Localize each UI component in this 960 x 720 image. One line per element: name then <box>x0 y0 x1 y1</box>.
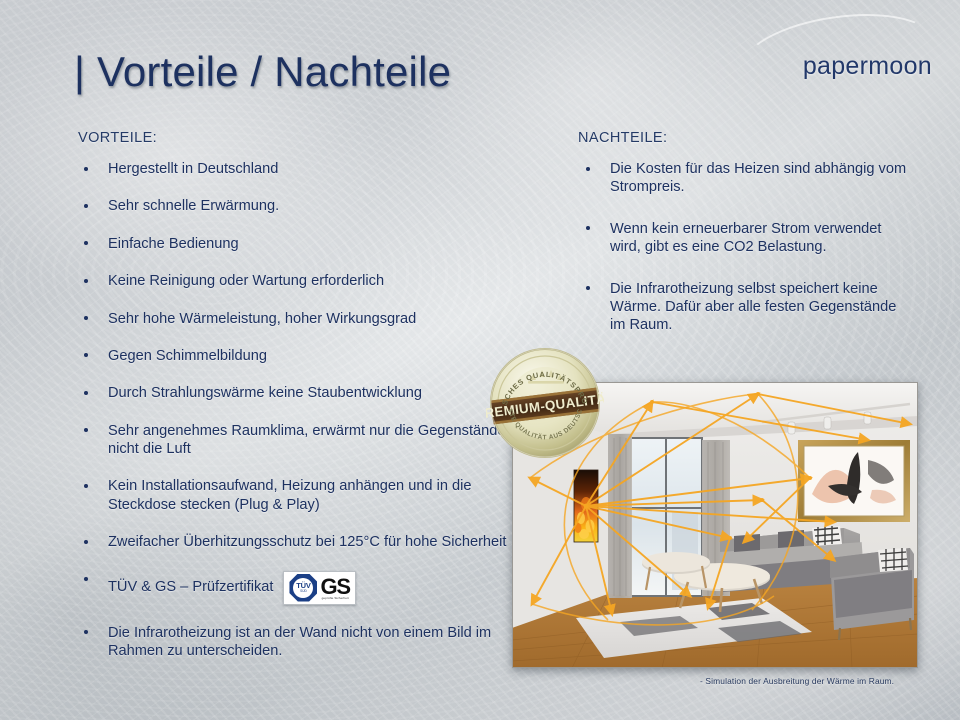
list-item: Durch Strahlungswärme keine Staubentwick… <box>78 384 510 402</box>
bullet-dot-icon <box>586 226 590 230</box>
tuv-sublabel: SÜD <box>300 590 307 593</box>
bullet-dot-icon <box>84 167 88 171</box>
list-item: Kein Installationsaufwand, Heizung anhän… <box>78 477 510 514</box>
premium-quality-seal-graphic: PREMIUM-QUALITÄT DEUTSCHES QUALITÄTSPROD… <box>486 344 604 462</box>
bullet-dot-icon <box>84 484 88 488</box>
list-item: Die Kosten für das Heizen sind abhängig … <box>578 160 908 197</box>
list-item: Sehr angenehmes Raumklima, erwärmt nur d… <box>78 422 510 459</box>
bullet-dot-icon <box>84 428 88 432</box>
list-item-text: Hergestellt in Deutschland <box>108 161 278 177</box>
list-item-text: Die Kosten für das Heizen sind abhängig … <box>610 161 906 195</box>
list-item: Sehr schnelle Erwärmung. <box>78 197 510 215</box>
bullet-dot-icon <box>84 630 88 634</box>
advantages-list: Hergestellt in Deutschland Sehr schnelle… <box>78 160 510 660</box>
list-item-text: Sehr angenehmes Raumklima, erwärmt nur d… <box>108 423 505 457</box>
gs-icon: GS geprüfte Sicherheit <box>320 576 349 600</box>
list-item: Die Infrarotheizung selbst speichert kei… <box>578 280 908 335</box>
gs-label: GS <box>320 576 349 598</box>
list-item: Hergestellt in Deutschland <box>78 160 510 178</box>
list-item-text: TÜV & GS – Prüfzertifikat <box>108 578 273 596</box>
disadvantages-heading: NACHTEILE: <box>578 130 908 146</box>
list-item-text: Kein Installationsaufwand, Heizung anhän… <box>108 478 472 512</box>
list-item: Sehr hohe Wärmeleistung, hoher Wirkungsg… <box>78 310 510 328</box>
bullet-dot-icon <box>84 241 88 245</box>
bullet-dot-icon <box>84 577 88 581</box>
list-item: Einfache Bedienung <box>78 235 510 253</box>
advantages-heading: VORTEILE: <box>78 130 510 146</box>
advantages-column: VORTEILE: Hergestellt in Deutschland Seh… <box>78 130 510 679</box>
list-item-text: Sehr hohe Wärmeleistung, hoher Wirkungsg… <box>108 311 416 327</box>
list-item-text: Die Infrarotheizung ist an der Wand nich… <box>108 625 491 659</box>
list-item-text: Wenn kein erneuerbarer Strom verwendet w… <box>610 221 881 255</box>
brand-name: papermoon <box>803 52 932 81</box>
list-item: Wenn kein erneuerbarer Strom verwendet w… <box>578 220 908 257</box>
disadvantages-column: NACHTEILE: Die Kosten für das Heizen sin… <box>578 130 908 358</box>
certificate-row: TÜV & GS – Prüfzertifikat TÜV SÜD GS gep… <box>108 571 510 605</box>
page-title: | Vorteile / Nachteile <box>74 48 451 96</box>
bullet-dot-icon <box>84 279 88 283</box>
slide-canvas: | Vorteile / Nachteile papermoon VORTEIL… <box>0 0 960 720</box>
tuv-icon-inner: TÜV SÜD <box>293 578 313 598</box>
bullet-dot-icon <box>586 167 590 171</box>
list-item-text: Zweifacher Überhitzungsschutz bei 125°C … <box>108 534 506 550</box>
disadvantages-list: Die Kosten für das Heizen sind abhängig … <box>578 160 908 335</box>
bullet-dot-icon <box>84 391 88 395</box>
list-item-text: Durch Strahlungswärme keine Staubentwick… <box>108 385 422 401</box>
photo-caption: - Simulation der Ausbreitung der Wärme i… <box>700 676 894 686</box>
list-item: Zweifacher Überhitzungsschutz bei 125°C … <box>78 533 510 551</box>
list-item-certificate: TÜV & GS – Prüfzertifikat TÜV SÜD GS gep… <box>78 571 510 605</box>
list-item-text: Einfache Bedienung <box>108 236 239 252</box>
tuv-gs-certification-badge: TÜV SÜD GS geprüfte Sicherheit <box>283 571 355 605</box>
list-item-text: Gegen Schimmelbildung <box>108 348 267 364</box>
bullet-dot-icon <box>586 286 590 290</box>
list-item: Keine Reinigung oder Wartung erforderlic… <box>78 272 510 290</box>
bullet-dot-icon <box>84 540 88 544</box>
tuv-icon: TÜV SÜD <box>289 574 317 602</box>
list-item: Gegen Schimmelbildung <box>78 347 510 365</box>
premium-quality-seal: PREMIUM-QUALITÄT DEUTSCHES QUALITÄTSPROD… <box>486 344 604 462</box>
bullet-dot-icon <box>84 353 88 357</box>
list-item: Die Infrarotheizung ist an der Wand nich… <box>78 624 510 661</box>
gs-sublabel: geprüfte Sicherheit <box>322 597 349 600</box>
list-item-text: Sehr schnelle Erwärmung. <box>108 198 279 214</box>
list-item-text: Die Infrarotheizung selbst speichert kei… <box>610 281 896 334</box>
list-item-text: Keine Reinigung oder Wartung erforderlic… <box>108 273 384 289</box>
bullet-dot-icon <box>84 204 88 208</box>
brand-logo: papermoon <box>803 52 932 81</box>
bullet-dot-icon <box>84 316 88 320</box>
